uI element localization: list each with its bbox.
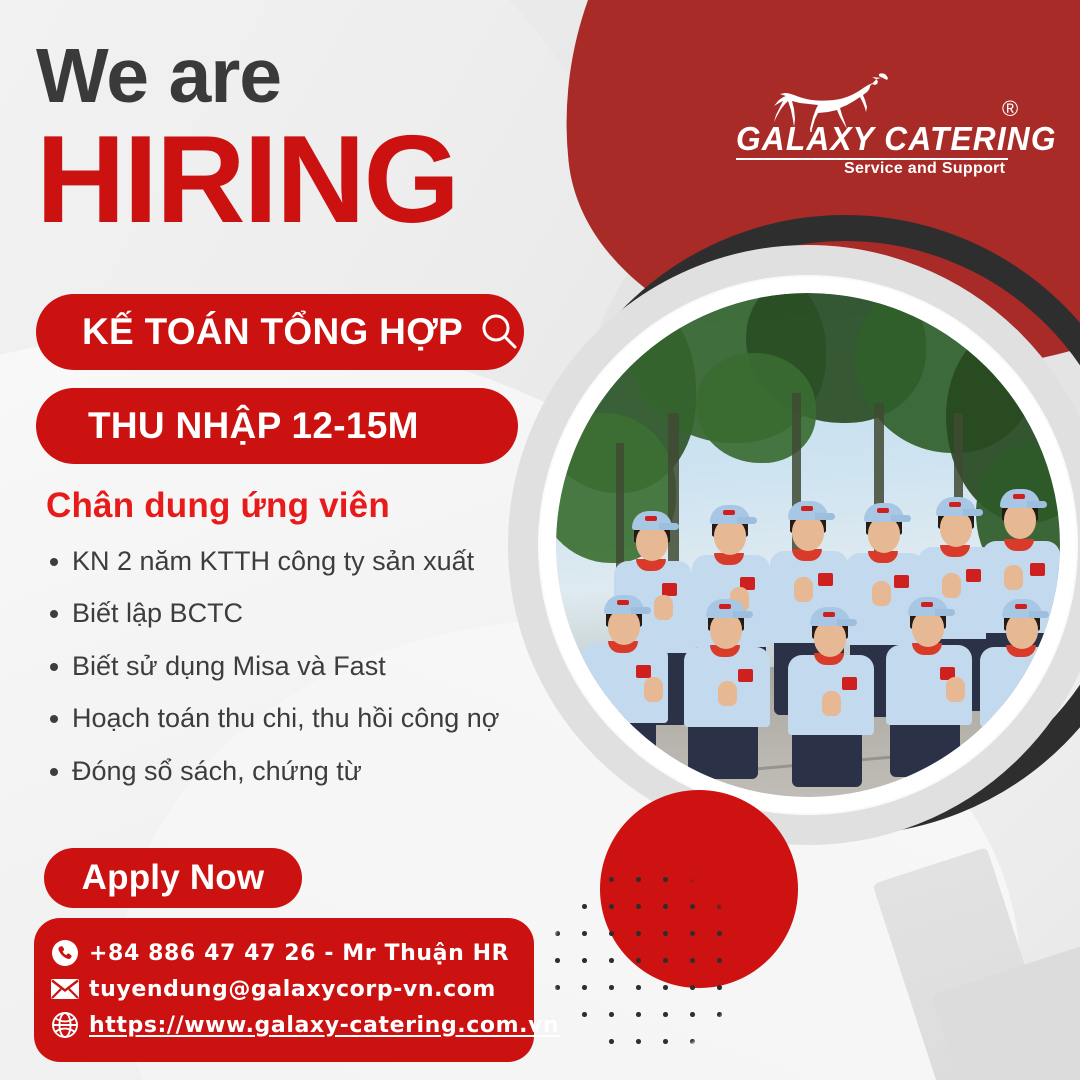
list-item: Biết lập BCTC — [44, 597, 514, 630]
phone-icon — [50, 938, 80, 968]
list-item: Hoạch toán thu chi, thu hồi công nợ — [44, 702, 514, 735]
contact-website[interactable]: https://www.galaxy-catering.com.vn — [89, 1013, 559, 1038]
salary-pill: THU NHẬP 12-15M — [36, 388, 518, 464]
brand-logo: GALAXY CATERING Service and Support ® — [726, 72, 1026, 184]
requirements-list: KN 2 năm KTTH công ty sản xuất Biết lập … — [44, 545, 514, 807]
contact-email: tuyendung@galaxycorp-vn.com — [89, 977, 496, 1002]
recruitment-poster: GALAXY CATERING Service and Support ® We… — [0, 0, 1080, 1080]
globe-icon — [50, 1010, 80, 1040]
profile-section-title: Chân dung ứng viên — [46, 486, 390, 526]
search-icon — [477, 310, 521, 354]
contact-phone: +84 886 47 47 26 - Mr Thuận HR — [89, 941, 509, 966]
salary-label: THU NHẬP 12-15M — [88, 405, 419, 447]
contact-email-row[interactable]: tuyendung@galaxycorp-vn.com — [50, 974, 514, 1004]
logo-tagline: Service and Support — [844, 160, 1005, 178]
contact-phone-row[interactable]: +84 886 47 47 26 - Mr Thuận HR — [50, 938, 514, 968]
apply-now-button[interactable]: Apply Now — [44, 848, 302, 908]
contact-website-row[interactable]: https://www.galaxy-catering.com.vn — [50, 1010, 514, 1040]
registered-mark: ® — [1002, 96, 1018, 122]
dot-grid-pattern-overlay — [540, 862, 750, 1062]
logo-name: GALAXY CATERING — [736, 120, 1057, 158]
list-item: KN 2 năm KTTH công ty sản xuất — [44, 545, 514, 578]
headline-line-2: HIRING — [36, 118, 458, 242]
envelope-icon — [50, 974, 80, 1004]
headline-line-1: We are — [36, 38, 281, 115]
contact-box: +84 886 47 47 26 - Mr Thuận HR tuyendung… — [34, 918, 534, 1062]
list-item: Biết sử dụng Misa và Fast — [44, 650, 514, 683]
job-title-label: KẾ TOÁN TỔNG HỢP — [82, 311, 463, 353]
apply-now-label: Apply Now — [82, 858, 265, 898]
magnifier-inner-white-ring — [540, 277, 1076, 813]
job-title-pill[interactable]: KẾ TOÁN TỔNG HỢP — [36, 294, 524, 370]
list-item: Đóng sổ sách, chứng từ — [44, 755, 514, 788]
